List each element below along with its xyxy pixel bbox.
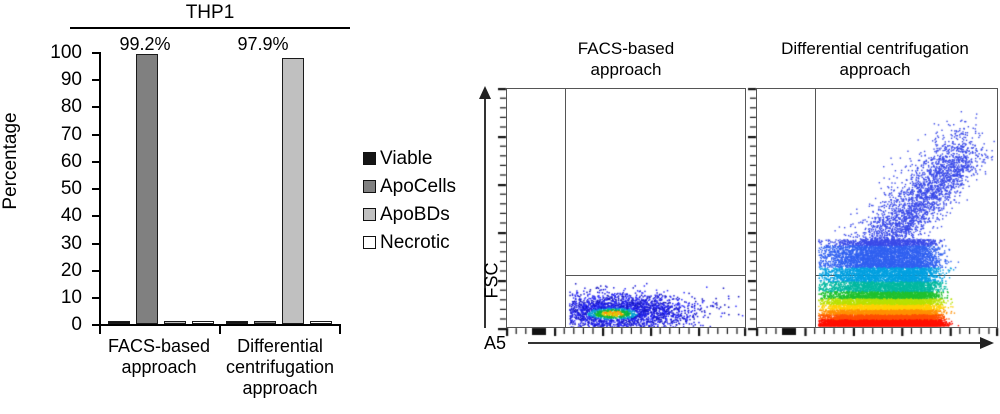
x-tick bbox=[339, 325, 341, 334]
flow-title-line: approach bbox=[752, 59, 998, 80]
x-group-label-line: FACS-based bbox=[98, 336, 220, 357]
bar-apocells bbox=[254, 321, 276, 324]
x-tick bbox=[99, 325, 101, 334]
legend-item-apocells: ApoCells bbox=[363, 172, 483, 200]
bar-necrotic bbox=[192, 321, 214, 324]
y-tick bbox=[92, 243, 100, 245]
legend-label: Necrotic bbox=[380, 233, 450, 252]
flow-cytometry-panel: FACS-based approach Differential centrif… bbox=[470, 0, 1000, 414]
legend-swatch-icon bbox=[363, 152, 376, 165]
y-tick-label: 80 bbox=[36, 97, 82, 116]
flow-plot-title-facs: FACS-based approach bbox=[506, 38, 746, 80]
bar-group-differential bbox=[218, 52, 336, 324]
legend-swatch-icon bbox=[363, 180, 376, 193]
flow-title-line: Differential centrifugation bbox=[752, 38, 998, 59]
legend-label: ApoCells bbox=[380, 177, 456, 196]
flow-title-line: FACS-based bbox=[506, 38, 746, 59]
plot-area bbox=[100, 52, 340, 324]
y-tick bbox=[92, 161, 100, 163]
chart-title: THP1 bbox=[70, 2, 350, 24]
y-tick bbox=[92, 106, 100, 108]
figure-root: THP1 100 90 80 70 60 50 40 30 20 10 0 Pe… bbox=[0, 0, 1000, 414]
y-tick bbox=[92, 52, 100, 54]
y-tick bbox=[92, 134, 100, 136]
x-group-label-line: Differential bbox=[216, 336, 344, 357]
flow-density-cloud bbox=[757, 89, 998, 328]
x-group-label-line: centrifugation bbox=[216, 357, 344, 378]
y-tick-label: 70 bbox=[36, 125, 82, 144]
flow-scatter-cloud bbox=[507, 89, 746, 328]
title-underline bbox=[70, 27, 350, 29]
x-group-label-line: approach bbox=[98, 357, 220, 378]
flow-title-line: approach bbox=[506, 59, 746, 80]
y-tick-label: 10 bbox=[36, 288, 82, 307]
legend-item-apobds: ApoBDs bbox=[363, 200, 483, 228]
bar-viable bbox=[108, 321, 130, 324]
y-tick-label: 90 bbox=[36, 70, 82, 89]
y-tick-label: 0 bbox=[36, 315, 82, 334]
bar-apocells bbox=[136, 54, 158, 324]
x-group-label-facs: FACS-based approach bbox=[98, 336, 220, 378]
x-group-label-line: approach bbox=[216, 378, 344, 399]
y-tick-label: 20 bbox=[36, 261, 82, 280]
bar-apobds bbox=[164, 321, 186, 324]
fsc-axis-label: FSC bbox=[482, 249, 503, 313]
y-tick bbox=[92, 270, 100, 272]
flow-plot-facs[interactable] bbox=[506, 88, 746, 328]
bar-group-facs bbox=[100, 52, 218, 324]
a5-axis-label: A5 bbox=[484, 333, 506, 354]
y-tick-label: 30 bbox=[36, 234, 82, 253]
y-tick-label: 50 bbox=[36, 179, 82, 198]
bar-value-label: 97.9% bbox=[223, 34, 303, 54]
legend-swatch-icon bbox=[363, 208, 376, 221]
legend-swatch-icon bbox=[363, 236, 376, 249]
y-axis-title: Percentage bbox=[0, 76, 22, 246]
y-tick bbox=[92, 79, 100, 81]
flow-plot-differential[interactable] bbox=[756, 88, 998, 328]
legend-label: Viable bbox=[380, 149, 432, 168]
y-tick-label: 100 bbox=[36, 43, 82, 62]
x-group-label-differential: Differential centrifugation approach bbox=[216, 336, 344, 399]
y-tick bbox=[92, 188, 100, 190]
flow-plot-title-differential: Differential centrifugation approach bbox=[752, 38, 998, 80]
legend-label: ApoBDs bbox=[380, 205, 450, 224]
y-tick bbox=[92, 297, 100, 299]
bar-necrotic bbox=[310, 321, 332, 324]
bar-chart-panel: THP1 100 90 80 70 60 50 40 30 20 10 0 Pe… bbox=[0, 0, 360, 414]
legend-item-necrotic: Necrotic bbox=[363, 228, 483, 256]
y-tick-label: 60 bbox=[36, 152, 82, 171]
y-tick bbox=[92, 215, 100, 217]
fsc-axis-arrowhead-icon bbox=[478, 86, 492, 100]
bar-apobds bbox=[282, 58, 304, 324]
chart-legend: Viable ApoCells ApoBDs Necrotic bbox=[363, 144, 483, 256]
bar-value-label: 99.2% bbox=[105, 34, 185, 54]
a5-axis-arrow-line bbox=[528, 342, 983, 344]
bar-viable bbox=[226, 321, 248, 324]
x-tick bbox=[219, 325, 221, 334]
y-tick-label: 40 bbox=[36, 206, 82, 225]
legend-item-viable: Viable bbox=[363, 144, 483, 172]
a5-axis-arrowhead-icon bbox=[978, 336, 994, 350]
